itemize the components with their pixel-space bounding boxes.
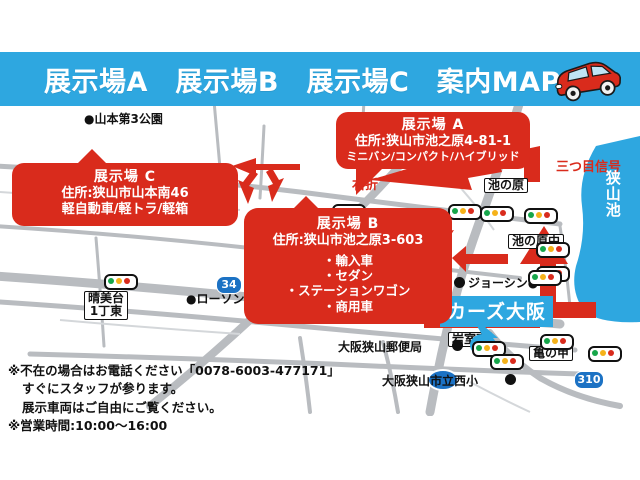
page-title: 展示場A 展示場B 展示場C 案内MAP — [44, 60, 561, 99]
label-harumidai-signal: 晴美台 1丁東 — [84, 291, 128, 320]
callout-c-types: 軽自動車/軽トラ/軽箱 — [16, 202, 234, 218]
route-shield-310: 310 — [574, 371, 604, 389]
callout-b-item-list: ・輸入車 ・セダン ・ステーションワゴン ・商用車 — [250, 253, 446, 314]
traffic-signal-joshin — [528, 270, 562, 286]
callout-b-address: 住所:狭山市池之原3-603 — [250, 233, 446, 249]
callout-a-address: 住所:狭山市池之原4-81-1 — [340, 134, 526, 150]
footer-note: ※不在の場合はお電話ください「0078-6003-477171」 すぐにスタッフ… — [8, 362, 340, 435]
callout-b-tail — [294, 196, 318, 208]
traffic-signal-east — [536, 242, 570, 258]
map-page: 展示場A 展示場B 展示場C 案内MAP — [0, 0, 640, 480]
cars-osaka-pointer — [468, 312, 504, 342]
callout-a-tail — [356, 169, 382, 195]
harumidai-line2: 1丁東 — [88, 305, 124, 318]
note-line-3: 展示車両はご自由にご覧ください。 — [8, 399, 340, 417]
traffic-signal-third — [524, 208, 558, 224]
callout-showroom-b[interactable]: 展示場 B 住所:狭山市池之原3-603 ・輸入車 ・セダン ・ステーションワゴ… — [244, 208, 452, 324]
label-sayama-pond: 狭山池 — [604, 170, 620, 218]
callout-b-item: ・ステーションワゴン — [250, 283, 446, 298]
traffic-signal-harumidai — [104, 274, 138, 290]
callout-b-item: ・商用車 — [250, 299, 446, 314]
label-post-office: 大阪狭山郵便局 — [338, 338, 422, 355]
label-ikenohara: 池の原 — [484, 178, 528, 193]
callout-c-address: 住所:狭山市山本南46 — [16, 186, 234, 202]
note-line-4: ※営業時間:10:00〜16:00 — [8, 417, 340, 435]
traffic-signal-ikenohara — [480, 206, 514, 222]
callout-c-title: 展示場 C — [16, 169, 234, 186]
label-nishi-elementary: 大阪狭山市立西小 — [382, 372, 478, 389]
map-dot-post — [452, 340, 463, 351]
callout-c-tail — [78, 149, 106, 163]
callout-showroom-c[interactable]: 展示場 C 住所:狭山市山本南46 軽自動車/軽トラ/軽箱 — [12, 163, 238, 226]
red-car-icon — [548, 56, 626, 102]
note-line-2: すぐにスタッフが参ります。 — [8, 380, 340, 398]
callout-b-item: ・輸入車 — [250, 253, 446, 268]
callout-a-types: ミニバン/コンパクト/ハイブリッド — [340, 150, 526, 163]
callout-a-title: 展示場 A — [340, 117, 526, 134]
callout-showroom-a[interactable]: 展示場 A 住所:狭山市池之原4-81-1 ミニバン/コンパクト/ハイブリッド — [336, 112, 530, 169]
traffic-signal-kamenoko-w — [540, 334, 574, 350]
route-shield-34: 34 — [216, 276, 242, 294]
label-yamamoto-park: ●山本第3公園 — [84, 110, 163, 127]
note-line-1: ※不在の場合はお電話ください「0078-6003-477171」 — [8, 362, 340, 380]
traffic-signal-post — [490, 354, 524, 370]
callout-b-item: ・セダン — [250, 268, 446, 283]
traffic-signal-ikenohara-e — [448, 204, 482, 220]
map-dot-school — [505, 374, 516, 385]
callout-b-title: 展示場 B — [250, 216, 446, 233]
traffic-signal-kamenoko — [588, 346, 622, 362]
map-dot-joshin — [454, 277, 465, 288]
